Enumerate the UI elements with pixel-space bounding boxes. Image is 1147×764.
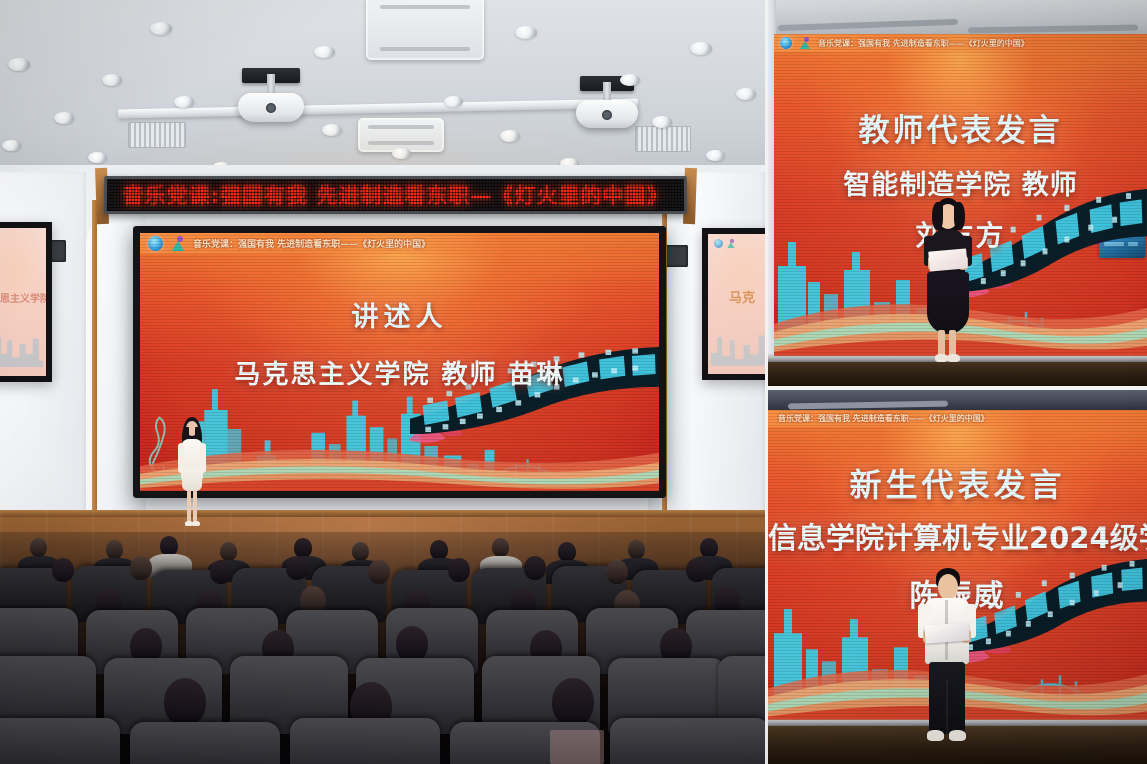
wall-seam: [92, 200, 97, 522]
wave-ribbons-graphic: [140, 424, 659, 491]
mountain-logo-icon: [798, 37, 812, 49]
slide-narrator: 音乐党课：强国有我 先进制造看东职——《灯火里的中国》: [140, 233, 659, 491]
air-grille-icon: [635, 126, 691, 152]
script-papers: [924, 622, 969, 643]
slide-header: 音乐党课：强国有我 先进制造看东职——《灯火里的中国》: [140, 233, 659, 254]
ticker-text: 音乐党课:强国有我 先进制造看东职—《灯火里的中国》: [122, 180, 668, 210]
slide-title: 教师代表发言: [774, 105, 1147, 150]
audience-area: [0, 532, 765, 764]
blue-circle-logo-icon: [148, 236, 163, 251]
ac-vent-icon: [366, 0, 484, 60]
ceiling-projector: [238, 74, 304, 122]
teacher-speech-photo: 音乐党课：强国有我 先进制造看东职——《灯火里的中国》: [768, 0, 1147, 386]
slide-header: 音乐党课：强国有我 先进制造看东职——《灯火里的中国》: [768, 410, 1147, 427]
main-led-screen: 音乐党课：强国有我 先进制造看东职——《灯火里的中国》: [133, 226, 666, 498]
slide-header-text: 音乐党课：强国有我 先进制造看东职——《灯火里的中国》: [778, 413, 989, 424]
led-ticker-banner: 音乐党课:强国有我 先进制造看东职—《灯火里的中国》: [104, 176, 688, 214]
air-grille-icon: [128, 122, 186, 148]
side-projection-screen-left: 马克思主义学院: [0, 222, 52, 382]
student-speaker: [916, 568, 978, 764]
slide-header: 音乐党课：强国有我 先进制造看东职——《灯火里的中国》: [774, 34, 1147, 52]
script-papers: [928, 248, 968, 271]
slide-title: 新生代表发言: [768, 460, 1147, 506]
ghost-skyline-icon: [711, 318, 765, 366]
side-projection-screen-right: 马克: [702, 228, 765, 380]
ac-vent-icon: [358, 118, 444, 152]
slide-header-text: 音乐党课：强国有我 先进制造看东职——《灯火里的中国》: [818, 38, 1029, 49]
slide-subtitle: 马克思主义学院 教师 苗琳: [140, 354, 659, 391]
blue-circle-logo-icon: [714, 239, 723, 248]
ceiling-rail: [118, 99, 638, 119]
mountain-logo-icon: [726, 239, 736, 248]
slide-header-text: 音乐党课：强国有我 先进制造看东职——《灯火里的中国》: [193, 237, 430, 250]
mountain-logo-icon: [169, 236, 187, 251]
ceiling-projector: [576, 82, 638, 128]
teacher-speaker: [918, 198, 976, 370]
collage-divider-horizontal: [765, 386, 1147, 390]
slide-title: 讲述人: [140, 295, 659, 334]
photo-collage: 马克思主义学院 马克 音乐党课:强国有我 先进制造看东职—《灯火里的中国》: [0, 0, 1147, 764]
slide-line2: 智能制造学院 教师: [774, 163, 1147, 202]
presenter-on-stage: [172, 417, 212, 529]
ghost-skyline-icon: [0, 317, 43, 367]
blue-circle-logo-icon: [780, 37, 792, 49]
student-speech-photo: 音乐党课：强国有我 先进制造看东职——《灯火里的中国》: [768, 390, 1147, 764]
main-auditorium-photo: 马克思主义学院 马克 音乐党课:强国有我 先进制造看东职—《灯火里的中国》: [0, 0, 765, 764]
slide-line2: 信息学院计算机专业2024级学: [768, 515, 1147, 557]
collage-divider-vertical: [765, 0, 768, 764]
ceiling: [0, 0, 765, 172]
